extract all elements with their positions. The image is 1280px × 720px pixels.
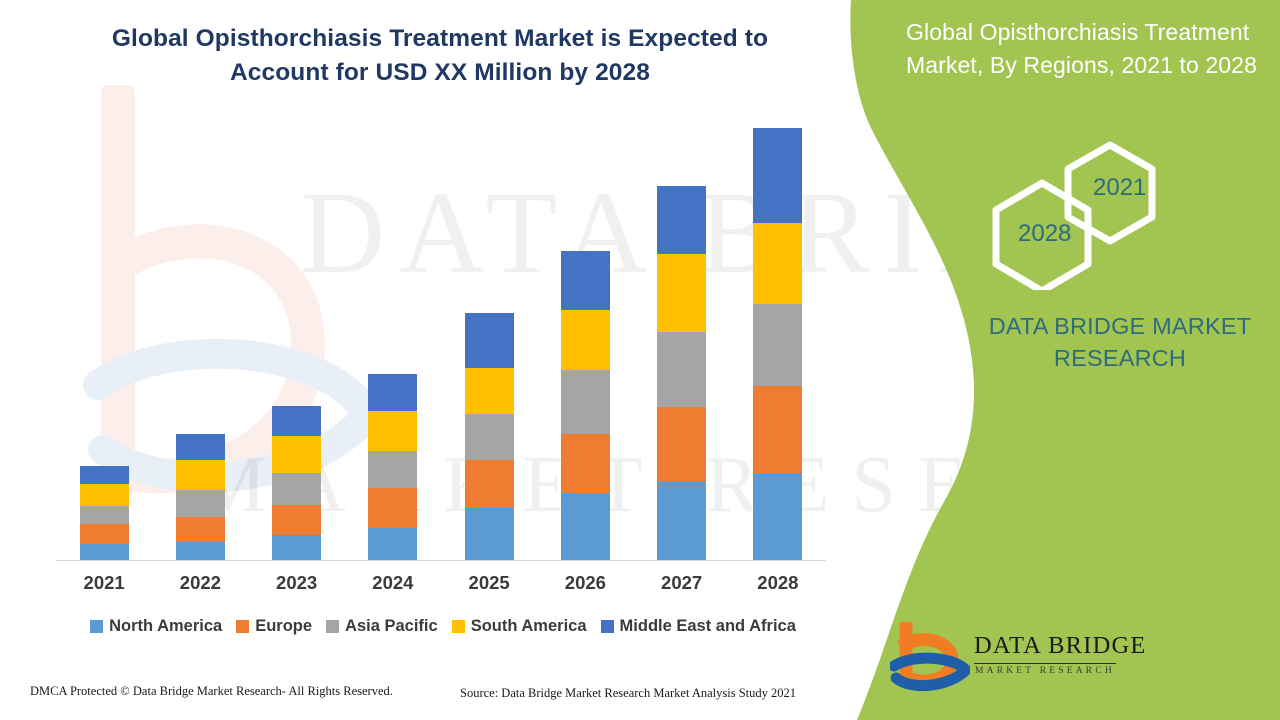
- legend-label: North America: [109, 617, 222, 636]
- bar-segment: [657, 254, 706, 332]
- bar-segment: [176, 434, 225, 460]
- bar-segment: [657, 407, 706, 482]
- bar-segment: [561, 310, 610, 370]
- bar-series-group: [56, 100, 826, 560]
- bar-segment: [80, 484, 129, 506]
- bar-column: [249, 100, 345, 560]
- bar-column: [345, 100, 441, 560]
- bar-segment: [368, 451, 417, 488]
- bar-segment: [272, 535, 321, 560]
- bar-stack-2023: [272, 406, 321, 560]
- bar-segment: [272, 473, 321, 505]
- bar-column: [730, 100, 826, 560]
- legend-swatch-icon: [326, 620, 339, 633]
- bar-column: [537, 100, 633, 560]
- x-axis-label-2025: 2025: [441, 572, 537, 594]
- legend-swatch-icon: [236, 620, 249, 633]
- bar-segment: [753, 473, 802, 560]
- legend-item[interactable]: Asia Pacific: [326, 617, 438, 636]
- data-bridge-logo: DATA BRIDGE MARKET RESEARCH: [890, 622, 1120, 694]
- bar-column: [152, 100, 248, 560]
- bar-stack-2025: [465, 313, 514, 560]
- brand-name: DATA BRIDGE MARKET RESEARCH: [960, 310, 1280, 375]
- legend-swatch-icon: [452, 620, 465, 633]
- bar-segment: [561, 251, 610, 311]
- bar-segment: [176, 542, 225, 560]
- bar-segment: [80, 544, 129, 560]
- logo-divider: [974, 663, 1116, 664]
- footer-source-text: Source: Data Bridge Market Research Mark…: [460, 686, 796, 701]
- bar-stack-2026: [561, 251, 610, 560]
- infographic-canvas: DATA BRIDGE MARKET RESEARCH Global Opist…: [0, 0, 1280, 720]
- bar-segment: [561, 370, 610, 433]
- legend-label: Asia Pacific: [345, 617, 438, 636]
- x-axis-label-2026: 2026: [537, 572, 633, 594]
- bar-segment: [272, 505, 321, 535]
- chart-plot-area: [56, 100, 826, 561]
- bar-segment: [368, 528, 417, 560]
- hex-badge-2028-label: 2028: [1018, 220, 1071, 248]
- x-axis-label-2028: 2028: [730, 572, 826, 594]
- legend-label: South America: [471, 617, 587, 636]
- bar-segment: [272, 436, 321, 473]
- legend-label: Middle East and Africa: [620, 617, 796, 636]
- bar-segment: [753, 304, 802, 387]
- bar-stack-2028: [753, 128, 802, 560]
- x-axis-label-2021: 2021: [56, 572, 152, 594]
- bar-segment: [465, 368, 514, 414]
- footer-dmca-text: DMCA Protected © Data Bridge Market Rese…: [30, 684, 393, 699]
- bar-stack-2021: [80, 466, 129, 560]
- bar-segment: [465, 313, 514, 368]
- page-title: Global Opisthorchiasis Treatment Market …: [60, 22, 820, 90]
- bar-column: [56, 100, 152, 560]
- bar-stack-2027: [657, 186, 706, 560]
- hex-badge-group: 2021 2028: [980, 135, 1190, 290]
- chart-legend: North AmericaEuropeAsia PacificSouth Ame…: [48, 617, 838, 636]
- bar-segment: [753, 386, 802, 472]
- hex-badge-2021-label: 2021: [1093, 174, 1146, 202]
- bar-segment: [465, 508, 514, 560]
- bar-segment: [753, 223, 802, 304]
- bar-segment: [657, 332, 706, 407]
- bar-segment: [80, 506, 129, 524]
- legend-item[interactable]: Europe: [236, 617, 312, 636]
- bar-segment: [465, 460, 514, 508]
- hex-badge-shapes-icon: [980, 135, 1190, 290]
- bar-column: [441, 100, 537, 560]
- legend-item[interactable]: Middle East and Africa: [601, 617, 796, 636]
- bar-segment: [657, 482, 706, 560]
- bar-segment: [176, 460, 225, 490]
- x-axis-label-2023: 2023: [249, 572, 345, 594]
- bar-segment: [465, 414, 514, 460]
- data-bridge-logo-mark-icon: [890, 622, 970, 694]
- legend-item[interactable]: South America: [452, 617, 587, 636]
- bar-stack-2024: [368, 374, 417, 560]
- logo-text-sub: MARKET RESEARCH: [975, 666, 1115, 676]
- panel-title: Global Opisthorchiasis Treatment Market,…: [906, 16, 1276, 81]
- bar-column: [634, 100, 730, 560]
- bar-segment: [176, 517, 225, 541]
- bar-segment: [176, 490, 225, 518]
- x-axis-label-2022: 2022: [152, 572, 248, 594]
- legend-label: Europe: [255, 617, 312, 636]
- bar-segment: [368, 411, 417, 451]
- x-axis-label-2024: 2024: [345, 572, 441, 594]
- bar-segment: [561, 434, 610, 494]
- legend-swatch-icon: [90, 620, 103, 633]
- bar-segment: [80, 466, 129, 484]
- bar-segment: [657, 186, 706, 254]
- bar-segment: [368, 374, 417, 411]
- bar-segment: [368, 488, 417, 528]
- bar-segment: [753, 128, 802, 223]
- legend-item[interactable]: North America: [90, 617, 222, 636]
- logo-text-main: DATA BRIDGE: [974, 632, 1147, 660]
- bar-stack-2022: [176, 434, 225, 560]
- x-axis-label-2027: 2027: [634, 572, 730, 594]
- legend-swatch-icon: [601, 620, 614, 633]
- x-axis-labels: 20212022202320242025202620272028: [56, 572, 826, 594]
- x-axis-line: [56, 560, 826, 561]
- bar-segment: [561, 493, 610, 560]
- bar-segment: [272, 406, 321, 436]
- bar-segment: [80, 524, 129, 544]
